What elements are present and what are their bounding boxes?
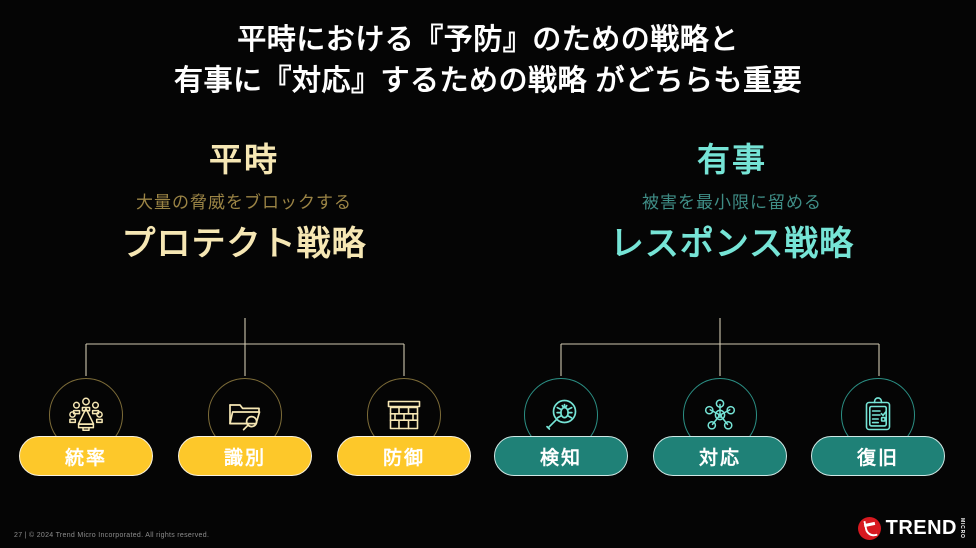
roundtable-icon — [66, 395, 106, 435]
logo-micro-text: MICRO — [959, 518, 964, 539]
title-line-2: 有事に『対応』するための戦略 がどちらも重要 — [0, 61, 976, 102]
column-heading-peacetime: 平時 — [0, 142, 488, 178]
column-emergency: 有事 被害を最小限に留める レスポンス戦略 — [488, 142, 976, 264]
slide-title: 平時における『予防』のための戦略と 有事に『対応』するための戦略 がどちらも重要 — [0, 20, 976, 102]
node-label-recover[interactable]: 復旧 — [811, 436, 945, 476]
network-nodes-icon — [701, 396, 739, 434]
slide-canvas: 平時における『予防』のための戦略と 有事に『対応』するための戦略 がどちらも重要… — [0, 0, 976, 548]
trend-micro-ball-icon — [858, 517, 881, 540]
column-strategy-response: レスポンス戦略 — [488, 225, 976, 264]
logo-wordmark: TREND — [886, 518, 957, 538]
column-subtitle-emergency: 被害を最小限に留める — [488, 194, 976, 213]
node-label-identify[interactable]: 識別 — [178, 436, 312, 476]
column-strategy-protect: プロテクト戦略 — [0, 225, 488, 264]
clipboard-checklist-icon — [859, 396, 897, 434]
node-label-protect[interactable]: 防御 — [337, 436, 471, 476]
trend-micro-logo: TREND MICRO — [858, 515, 964, 541]
copyright-text: 27 | © 2024 Trend Micro Incorporated. Al… — [14, 532, 209, 539]
brick-wall-icon — [385, 396, 423, 434]
column-peacetime: 平時 大量の脅威をブロックする プロテクト戦略 — [0, 142, 488, 264]
footer-bar: 27 | © 2024 Trend Micro Incorporated. Al… — [0, 514, 976, 548]
column-heading-emergency: 有事 — [488, 142, 976, 178]
node-label-govern[interactable]: 統率 — [19, 436, 153, 476]
folder-search-icon — [226, 396, 264, 434]
title-line-1: 平時における『予防』のための戦略と — [0, 20, 976, 61]
node-label-detect[interactable]: 検知 — [494, 436, 628, 476]
column-subtitle-peacetime: 大量の脅威をブロックする — [0, 194, 488, 213]
magnifier-bug-icon — [542, 396, 580, 434]
node-label-respond[interactable]: 対応 — [653, 436, 787, 476]
